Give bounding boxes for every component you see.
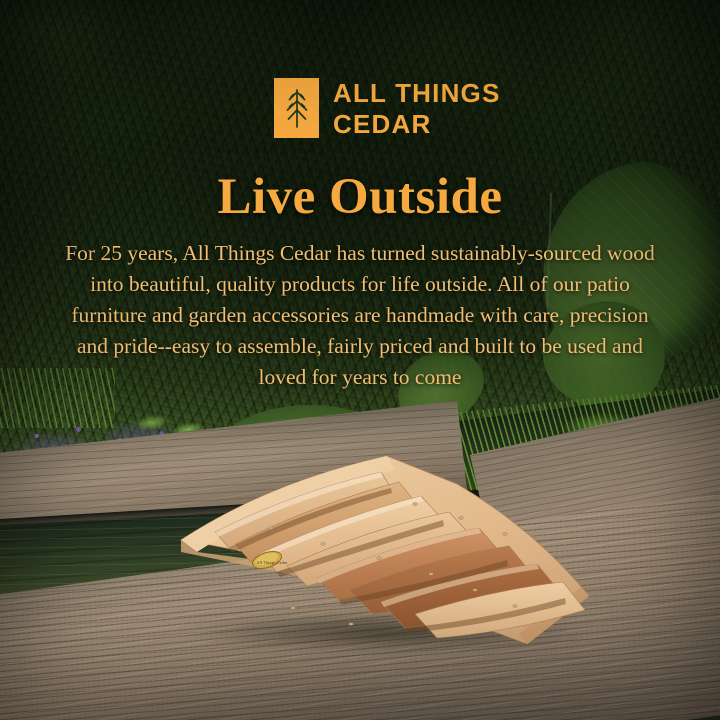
cedar-bath-mat-product: All Things Cedar (175, 448, 595, 653)
page-title: Live Outside (0, 168, 720, 226)
brand-name-line1: ALL THINGS (333, 80, 501, 106)
brand-name-line2: CEDAR (333, 111, 501, 137)
pine-tree-icon (274, 78, 319, 138)
marketing-body-copy: For 25 years, All Things Cedar has turne… (62, 238, 658, 393)
brand-logo[interactable]: ALL THINGS CEDAR (274, 78, 501, 138)
promo-banner: All Things Cedar ALL THINGS CEDAR (0, 0, 720, 720)
brand-wordmark: ALL THINGS CEDAR (333, 80, 501, 137)
cedar-bath-mat-illustration (175, 448, 595, 653)
medallion-label: All Things Cedar (255, 554, 289, 570)
